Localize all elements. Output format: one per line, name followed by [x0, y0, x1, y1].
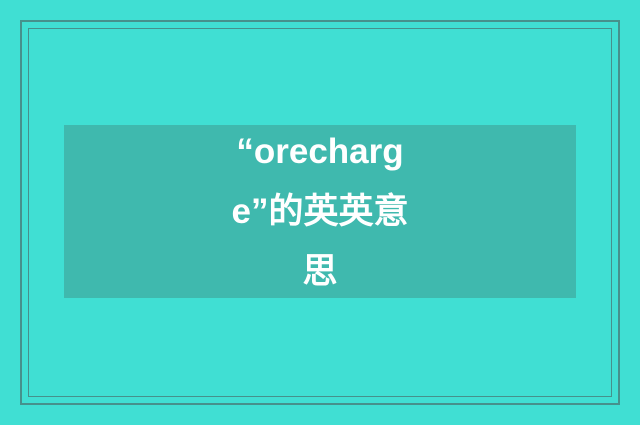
banner-graphic: “orecharge”的英英意思 — [0, 0, 640, 425]
headline-text: “orecharge”的英英意思 — [227, 122, 413, 302]
headline-plate: “orecharge”的英英意思 — [64, 125, 576, 298]
